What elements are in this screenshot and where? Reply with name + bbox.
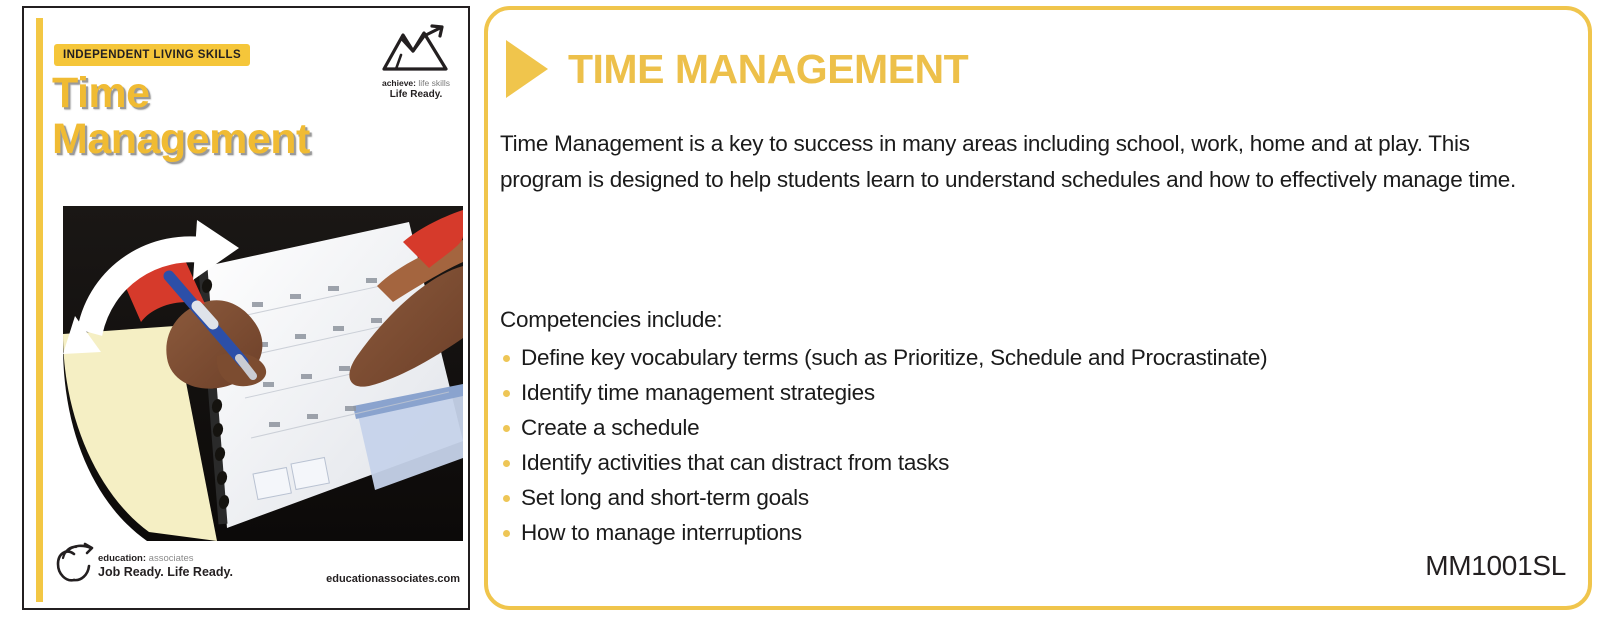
list-item: Set long and short-term goals	[500, 480, 1550, 515]
bullet-dot-icon	[503, 460, 510, 467]
org-name-prefix: education:	[98, 553, 146, 564]
list-item: Create a schedule	[500, 410, 1550, 445]
achieve-tagline-prefix: achieve:	[382, 78, 416, 88]
page-title: TIME MANAGEMENT	[568, 46, 968, 93]
list-item: Identify time management strategies	[500, 375, 1550, 410]
apple-arrow-icon	[54, 542, 94, 589]
org-name: education: associates	[98, 553, 233, 564]
achieve-tagline-suffix: life skills	[416, 78, 450, 88]
cover-content: INDEPENDENT LIVING SKILLS Time Managemen…	[54, 8, 468, 608]
info-panel: TIME MANAGEMENT Time Management is a key…	[484, 6, 1592, 610]
list-item: Identify activities that can distract fr…	[500, 445, 1550, 480]
cover-accent-bar	[36, 18, 43, 602]
list-item-label: Create a schedule	[521, 415, 699, 440]
list-item: How to manage interruptions	[500, 515, 1550, 550]
list-item: Define key vocabulary terms (such as Pri…	[500, 340, 1550, 375]
org-tagline: Job Ready. Life Ready.	[98, 565, 233, 579]
list-item-label: Identify time management strategies	[521, 380, 875, 405]
list-item-label: Define key vocabulary terms (such as Pri…	[521, 345, 1267, 370]
cover-title-line-2: Management	[52, 116, 452, 162]
bullet-dot-icon	[503, 355, 510, 362]
org-name-suffix: associates	[146, 553, 194, 564]
competencies-list: Define key vocabulary terms (such as Pri…	[500, 340, 1550, 550]
product-info-card: INDEPENDENT LIVING SKILLS Time Managemen…	[0, 0, 1600, 636]
mountain-arrow-icon	[370, 24, 462, 74]
achieve-tagline: achieve: life skills	[370, 78, 462, 88]
achieve-brand-logo: achieve: life skills Life Ready.	[370, 24, 462, 100]
list-item-label: Identify activities that can distract fr…	[521, 450, 949, 475]
bullet-dot-icon	[503, 425, 510, 432]
product-code: MM1001SL	[1425, 550, 1566, 582]
program-description: Time Management is a key to success in m…	[500, 126, 1522, 198]
bullet-dot-icon	[503, 495, 510, 502]
play-triangle-icon	[506, 40, 548, 98]
education-associates-text: education: associates Job Ready. Life Re…	[98, 553, 233, 579]
competencies-heading: Competencies include:	[500, 307, 722, 333]
bullet-dot-icon	[503, 530, 510, 537]
category-badge: INDEPENDENT LIVING SKILLS	[54, 44, 250, 66]
achieve-tagline-bold: Life Ready.	[370, 89, 462, 100]
cover-footer: education: associates Job Ready. Life Re…	[54, 542, 468, 588]
cover-card: INDEPENDENT LIVING SKILLS Time Managemen…	[22, 6, 470, 610]
website-url[interactable]: educationassociates.com	[326, 573, 460, 585]
bullet-dot-icon	[503, 390, 510, 397]
education-associates-logo: education: associates Job Ready. Life Re…	[54, 542, 233, 589]
panel-header: TIME MANAGEMENT	[506, 40, 968, 98]
list-item-label: Set long and short-term goals	[521, 485, 809, 510]
planner-writing-photo	[57, 206, 463, 541]
list-item-label: How to manage interruptions	[521, 520, 802, 545]
